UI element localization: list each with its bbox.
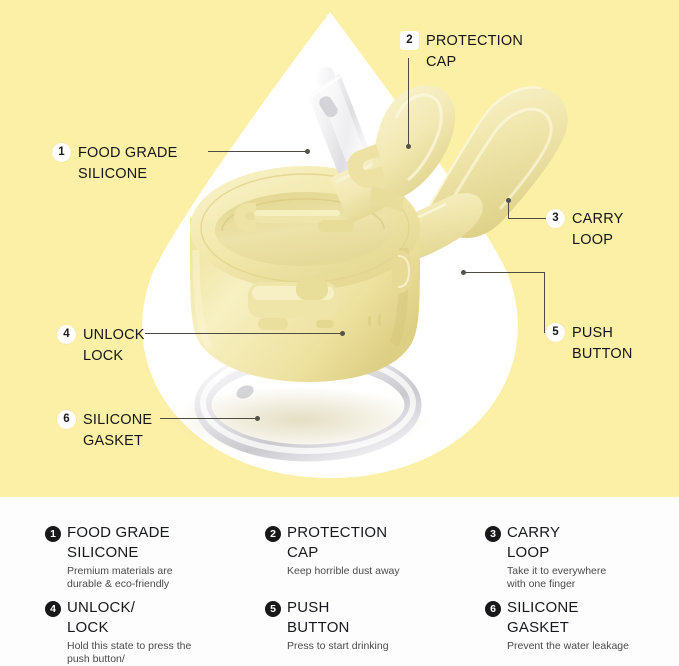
- callout-2[interactable]: 2PROTECTION CAP: [400, 31, 523, 73]
- legend-item-5[interactable]: 5PUSH BUTTON Press to start drinking: [265, 598, 389, 653]
- callout-3[interactable]: 3CARRY LOOP: [546, 209, 624, 251]
- legend-badge-5: 5: [265, 601, 281, 617]
- callout-4-label: UNLOCK LOCK: [83, 325, 145, 367]
- hero-panel: 1FOOD GRADE SILICONE 2PROTECTION CAP 3CA…: [0, 0, 679, 497]
- callout-4-badge: 4: [57, 325, 76, 344]
- callout-1-label: FOOD GRADE SILICONE: [78, 143, 177, 185]
- legend-item-5-head: 5PUSH BUTTON: [265, 598, 389, 638]
- legend-item-6[interactable]: 6SILICONE GASKET Prevent the water leaka…: [485, 598, 629, 653]
- callout-5-badge: 5: [546, 323, 565, 342]
- legend-item-1[interactable]: 1FOOD GRADE SILICONE Premium materials a…: [45, 523, 173, 591]
- callout-3-badge: 3: [546, 209, 565, 228]
- legend-item-4[interactable]: 4UNLOCK/ LOCK Hold this state to press t…: [45, 598, 193, 666]
- legend-title-4: UNLOCK/ LOCK: [67, 598, 135, 638]
- legend-desc-3: Take it to everywhere with one finger: [507, 565, 606, 591]
- callout-5[interactable]: 5PUSH BUTTON: [546, 323, 633, 365]
- callout-5-label: PUSH BUTTON: [572, 323, 633, 365]
- callout-2-label: PROTECTION CAP: [426, 31, 523, 73]
- legend-badge-6: 6: [485, 601, 501, 617]
- legend-desc-6: Prevent the water leakage: [507, 640, 629, 653]
- callout-6-label: SILICONE GASKET: [83, 410, 152, 452]
- legend-title-3: CARRY LOOP: [507, 523, 560, 563]
- legend-item-1-head: 1FOOD GRADE SILICONE: [45, 523, 173, 563]
- legend-item-3[interactable]: 3CARRY LOOP Take it to everywhere with o…: [485, 523, 606, 591]
- callout-3-label: CARRY LOOP: [572, 209, 624, 251]
- legend-title-1: FOOD GRADE SILICONE: [67, 523, 170, 563]
- legend-title-6: SILICONE GASKET: [507, 598, 579, 638]
- callout-1[interactable]: 1FOOD GRADE SILICONE: [52, 143, 177, 185]
- callout-1-badge: 1: [52, 143, 71, 162]
- legend-badge-4: 4: [45, 601, 61, 617]
- legend-desc-5: Press to start drinking: [287, 640, 389, 653]
- callout-4[interactable]: 4UNLOCK LOCK: [57, 325, 145, 367]
- legend-badge-1: 1: [45, 526, 61, 542]
- legend-badge-2: 2: [265, 526, 281, 542]
- legend-item-2-head: 2PROTECTION CAP: [265, 523, 400, 563]
- callout-2-badge: 2: [400, 31, 419, 50]
- legend-item-6-head: 6SILICONE GASKET: [485, 598, 629, 638]
- legend-desc-4: Hold this state to press the push button…: [67, 640, 193, 666]
- legend-item-3-head: 3CARRY LOOP: [485, 523, 606, 563]
- legend-desc-2: Keep horrible dust away: [287, 565, 400, 578]
- legend-item-4-head: 4UNLOCK/ LOCK: [45, 598, 193, 638]
- callout-6[interactable]: 6SILICONE GASKET: [57, 410, 152, 452]
- legend-desc-1: Premium materials are durable & eco-frie…: [67, 565, 173, 591]
- legend-title-5: PUSH BUTTON: [287, 598, 350, 638]
- infographic-page: 1FOOD GRADE SILICONE 2PROTECTION CAP 3CA…: [0, 0, 679, 666]
- legend-item-2[interactable]: 2PROTECTION CAP Keep horrible dust away: [265, 523, 400, 578]
- legend-panel: 1FOOD GRADE SILICONE Premium materials a…: [0, 497, 679, 666]
- legend-title-2: PROTECTION CAP: [287, 523, 387, 563]
- callout-6-badge: 6: [57, 410, 76, 429]
- legend-badge-3: 3: [485, 526, 501, 542]
